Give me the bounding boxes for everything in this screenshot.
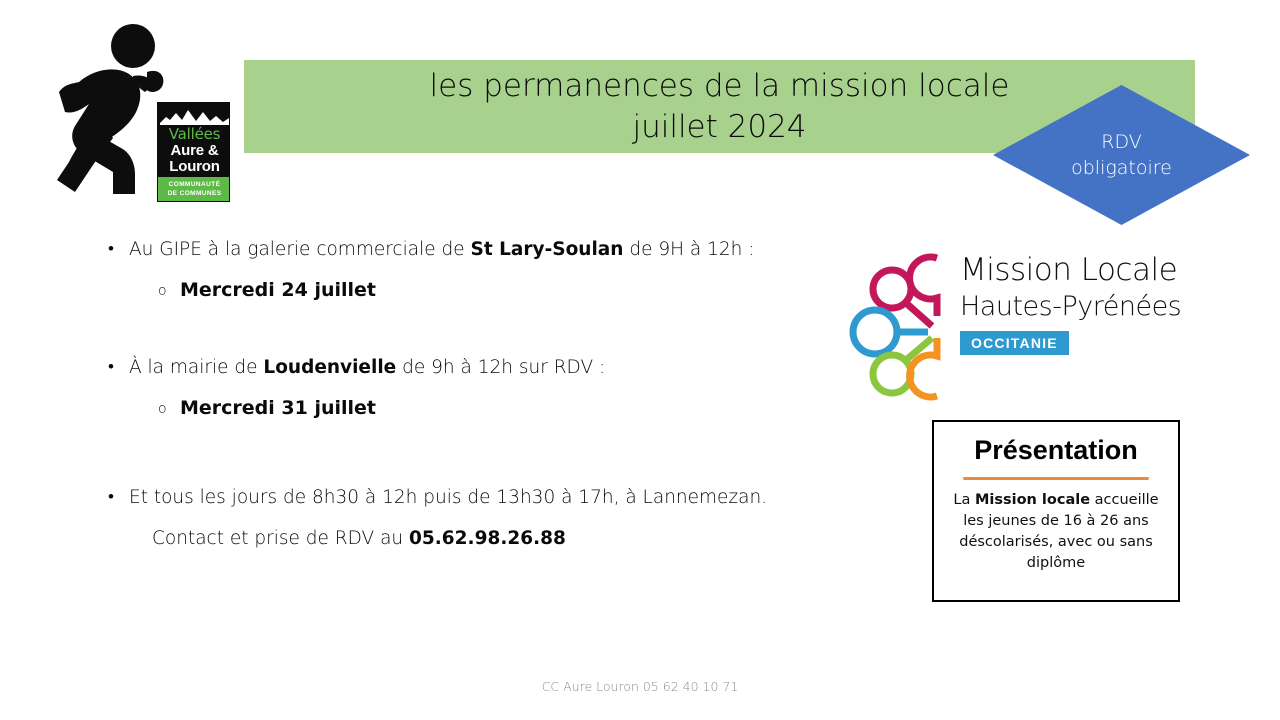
presentation-divider (963, 477, 1149, 480)
cc-logo-louron: Louron (158, 159, 230, 174)
bullet-item: Au GIPE à la galerie commerciale de St L… (100, 236, 860, 263)
rdv-badge-line-2: obligatoire (1071, 155, 1172, 181)
bullet-location: Loudenvielle (263, 357, 396, 378)
presentation-body-lead: La (953, 492, 975, 508)
cc-banner-line-2: DE COMMUNES (168, 189, 222, 198)
mission-locale-logo: Mission Locale Hautes-Pyrénées OCCITANIE (848, 248, 1183, 406)
mountains-icon (158, 105, 230, 127)
bullet-group-1: Au GIPE à la galerie commerciale de St L… (100, 236, 860, 304)
mission-locale-region: Hautes-Pyrénées (960, 293, 1183, 321)
cc-logo-aure: Aure & (158, 143, 230, 158)
presentation-body-emphasis: Mission locale (975, 492, 1090, 508)
bullet-list: Au GIPE à la galerie commerciale de St L… (100, 236, 860, 552)
bullet-group-2: À la mairie de Loudenvielle de 9h à 12h … (100, 354, 860, 422)
spacer (100, 304, 860, 354)
brand-logo: Vallées Aure & Louron COMMUNAUTÉ DE COMM… (55, 22, 240, 207)
cc-logo-vallees: Vallées (158, 127, 230, 142)
mission-locale-name: Mission Locale (960, 254, 1183, 287)
bullet-tail-text: de 9H à 12h : (623, 239, 754, 260)
bullet-location: St Lary-Soulan (471, 239, 624, 260)
bullet-group-3: Et tous les jours de 8h30 à 12h puis de … (100, 484, 860, 552)
rdv-badge-line-1: RDV (1101, 129, 1142, 155)
contact-line: Contact et prise de RDV au 05.62.98.26.8… (100, 525, 860, 552)
cc-logo-banner: COMMUNAUTÉ DE COMMUNES (158, 177, 230, 201)
presentation-body-text: La Mission locale accueille les jeunes d… (934, 490, 1178, 574)
bullet-subitem: Mercredi 31 juillet (100, 395, 860, 422)
cc-aure-louron-logo: Vallées Aure & Louron COMMUNAUTÉ DE COMM… (157, 102, 230, 202)
cc-banner-line-1: COMMUNAUTÉ (169, 180, 221, 189)
slide-canvas: Vallées Aure & Louron COMMUNAUTÉ DE COMM… (0, 0, 1280, 720)
bullet-lead-text: À la mairie de (129, 357, 263, 378)
mission-locale-wordmark: Mission Locale Hautes-Pyrénées OCCITANIE (960, 254, 1183, 402)
presentation-box: Présentation La Mission locale accueille… (932, 420, 1180, 602)
footer-text: CC Aure Louron 05 62 40 10 71 (0, 679, 1280, 694)
bullet-tail-text: de 9h à 12h sur RDV : (396, 357, 605, 378)
presentation-title: Présentation (934, 436, 1178, 466)
bullet-item: À la mairie de Loudenvielle de 9h à 12h … (100, 354, 860, 381)
contact-phone-number: 05.62.98.26.88 (409, 528, 566, 549)
spacer (100, 422, 860, 484)
bullet-lead-text: Au GIPE à la galerie commerciale de (129, 239, 471, 260)
bullet-subitem: Mercredi 24 juillet (100, 277, 860, 304)
mission-locale-mark-icon (848, 248, 960, 406)
contact-lead-text: Contact et prise de RDV au (152, 528, 409, 549)
bullet-item: Et tous les jours de 8h30 à 12h puis de … (100, 484, 860, 511)
occitanie-badge: OCCITANIE (960, 331, 1069, 355)
